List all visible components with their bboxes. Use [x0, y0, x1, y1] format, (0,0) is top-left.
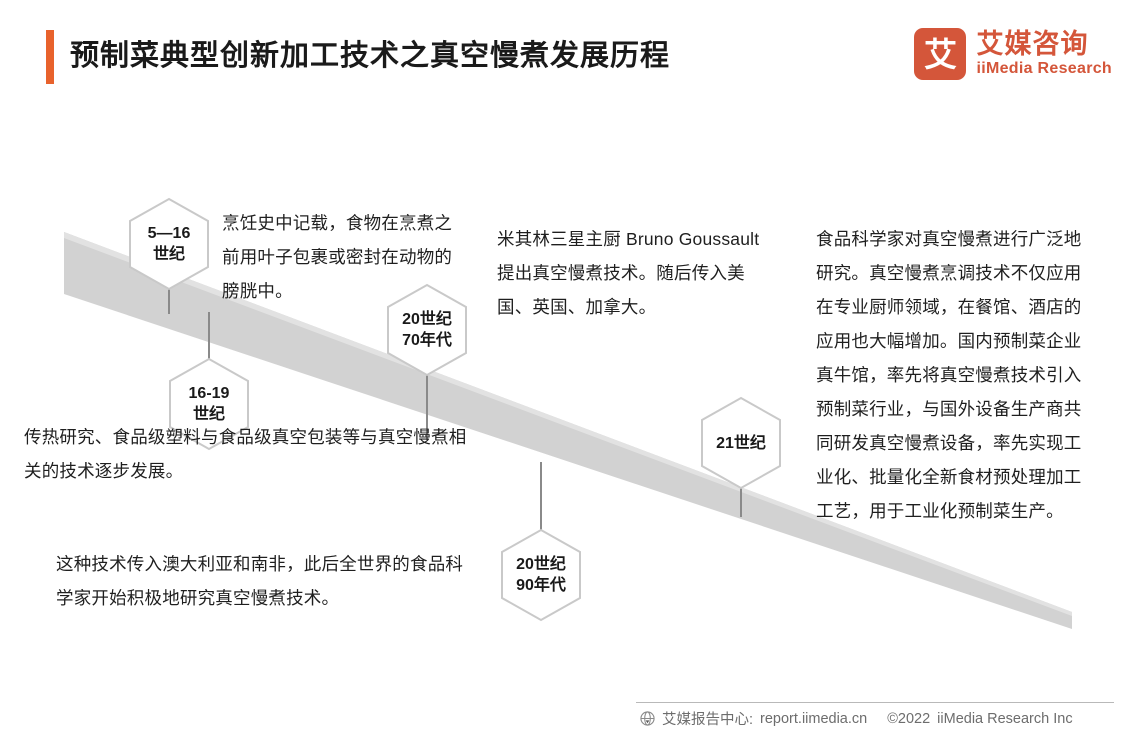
infographic-page: 预制菜典型创新加工技术之真空慢煮发展历程 艾 艾媒咨询 iiMedia Rese… [0, 0, 1134, 737]
connector-stem-4 [540, 462, 542, 532]
logo-name-cn: 艾媒咨询 [976, 29, 1112, 59]
footer-divider [636, 702, 1114, 703]
footer-url[interactable]: report.iimedia.cn [760, 711, 867, 727]
logo-text: 艾媒咨询 iiMedia Research [976, 29, 1112, 79]
page-title: 预制菜典型创新加工技术之真空慢煮发展历程 [70, 32, 870, 80]
timeline-marker-1[interactable]: 5—16 世纪 [126, 196, 212, 292]
timeline-marker-5[interactable]: 21世纪 [698, 395, 784, 491]
timeline-description-4: 这种技术传入澳大利亚和南非，此后全世界的食品科学家开始积极地研究真空慢煮技术。 [56, 547, 476, 615]
footer-copyright: ©2022 [887, 711, 930, 727]
timeline-marker-label: 20世纪 90年代 [498, 527, 584, 623]
timeline-marker-label: 21世纪 [698, 395, 784, 491]
footer: 艾媒报告中心: report.iimedia.cn ©2022 iiMedia … [640, 708, 1073, 729]
timeline-marker-label: 5—16 世纪 [126, 196, 212, 292]
globe-icon [640, 711, 655, 726]
timeline-description-3: 米其林三星主厨 Bruno Goussault 提出真空慢煮技术。随后传入美国、… [497, 222, 773, 324]
timeline-marker-4[interactable]: 20世纪 90年代 [498, 527, 584, 623]
logo-mark-icon: 艾 [914, 28, 966, 80]
timeline-description-5: 食品科学家对真空慢煮进行广泛地研究。真空慢煮烹调技术不仅应用在专业厨师领域，在餐… [816, 222, 1088, 528]
title-accent-bar [46, 30, 54, 84]
footer-report-center-label: 艾媒报告中心: [662, 708, 753, 729]
brand-logo: 艾 艾媒咨询 iiMedia Research [914, 28, 1112, 80]
timeline-description-1: 烹饪史中记载，食物在烹煮之前用叶子包裹或密封在动物的膀胱中。 [222, 206, 454, 308]
footer-company: iiMedia Research Inc [937, 711, 1072, 727]
logo-name-en: iiMedia Research [976, 59, 1112, 79]
timeline-description-2: 传热研究、食品级塑料与食品级真空包装等与真空慢煮相关的技术逐步发展。 [24, 420, 476, 488]
